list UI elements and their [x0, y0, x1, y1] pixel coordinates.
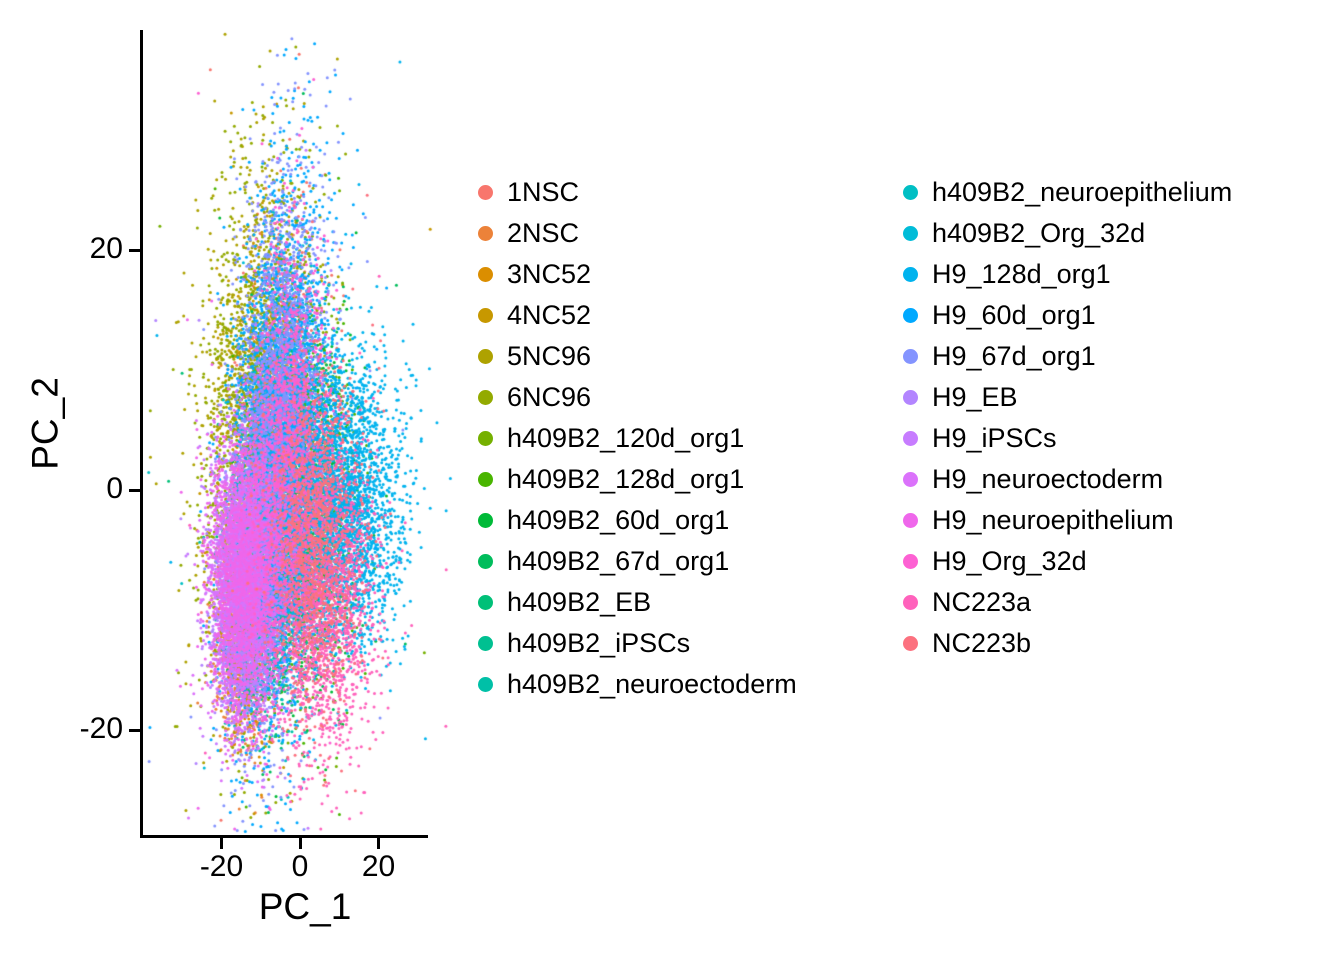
legend-color-dot-icon [903, 390, 918, 405]
legend-key [468, 185, 502, 200]
legend-item-label: h409B2_neuroepithelium [927, 179, 1232, 206]
x-tick-mark [299, 838, 302, 849]
legend-item[interactable]: 6NC96 [468, 377, 893, 418]
legend-color-dot-icon [478, 513, 493, 528]
legend-color-dot-icon [903, 431, 918, 446]
legend-key [468, 472, 502, 487]
legend-key [468, 636, 502, 651]
legend-color-dot-icon [478, 595, 493, 610]
legend-item[interactable]: h409B2_neuroepithelium [893, 172, 1323, 213]
y-tick-label: 20 [29, 234, 123, 264]
legend-item-label: H9_neuroectoderm [927, 466, 1163, 493]
legend-item-label: 2NSC [502, 220, 579, 247]
legend-key [893, 308, 927, 323]
x-tick-label: 20 [334, 852, 424, 882]
legend-item[interactable]: H9_iPSCs [893, 418, 1323, 459]
legend-key [468, 431, 502, 446]
legend-item[interactable]: NC223a [893, 582, 1323, 623]
legend-item[interactable]: h409B2_iPSCs [468, 623, 893, 664]
legend-item[interactable]: H9_60d_org1 [893, 295, 1323, 336]
legend-item-label: NC223b [927, 630, 1031, 657]
legend-color-dot-icon [903, 595, 918, 610]
legend-color-dot-icon [478, 554, 493, 569]
y-tick-mark [129, 249, 140, 252]
legend-color-dot-icon [903, 513, 918, 528]
legend-color-dot-icon [903, 554, 918, 569]
y-tick-label: -20 [29, 714, 123, 744]
legend-item-label: h409B2_iPSCs [502, 630, 690, 657]
legend-item[interactable]: 2NSC [468, 213, 893, 254]
legend-key [893, 349, 927, 364]
legend-item-label: h409B2_neuroectoderm [502, 671, 797, 698]
legend-item-label: 6NC96 [502, 384, 591, 411]
legend-item-label: H9_EB [927, 384, 1018, 411]
legend-key [468, 677, 502, 692]
legend-key [893, 431, 927, 446]
legend-item[interactable]: H9_128d_org1 [893, 254, 1323, 295]
legend-item-label: h409B2_Org_32d [927, 220, 1145, 247]
legend-item-label: h409B2_120d_org1 [502, 425, 744, 452]
legend-key [893, 554, 927, 569]
y-tick-mark [129, 489, 140, 492]
legend-item[interactable]: 1NSC [468, 172, 893, 213]
legend-item[interactable]: NC223b [893, 623, 1323, 664]
legend-color-dot-icon [478, 308, 493, 323]
legend-item[interactable]: h409B2_EB [468, 582, 893, 623]
legend-item-label: H9_60d_org1 [927, 302, 1096, 329]
legend-item-label: 3NC52 [502, 261, 591, 288]
legend-item-label: 1NSC [502, 179, 579, 206]
legend-column-1: 1NSC2NSC3NC524NC525NC966NC96h409B2_120d_… [468, 172, 893, 705]
legend-item-label: 5NC96 [502, 343, 591, 370]
legend-item[interactable]: 4NC52 [468, 295, 893, 336]
legend-key [468, 349, 502, 364]
legend-item[interactable]: H9_67d_org1 [893, 336, 1323, 377]
legend-color-dot-icon [903, 636, 918, 651]
legend-key [893, 226, 927, 241]
legend-item[interactable]: h409B2_120d_org1 [468, 418, 893, 459]
legend-item[interactable]: H9_neuroepithelium [893, 500, 1323, 541]
legend-item[interactable]: H9_EB [893, 377, 1323, 418]
legend-key [468, 308, 502, 323]
legend-item-label: h409B2_EB [502, 589, 651, 616]
legend-color-dot-icon [903, 308, 918, 323]
legend-item[interactable]: H9_Org_32d [893, 541, 1323, 582]
legend-item[interactable]: H9_neuroectoderm [893, 459, 1323, 500]
legend-key [893, 185, 927, 200]
legend-key [468, 554, 502, 569]
legend-color-dot-icon [903, 267, 918, 282]
plot-panel: -20 0 20 -20 0 20 PC_1 PC_2 [0, 0, 470, 960]
legend-item-label: 4NC52 [502, 302, 591, 329]
legend-key [468, 595, 502, 610]
legend-key [893, 267, 927, 282]
legend-item-label: H9_Org_32d [927, 548, 1087, 575]
legend-key [468, 390, 502, 405]
legend-item[interactable]: h409B2_Org_32d [893, 213, 1323, 254]
legend-item-label: H9_128d_org1 [927, 261, 1111, 288]
legend: 1NSC2NSC3NC524NC525NC966NC96h409B2_120d_… [468, 172, 1323, 705]
legend-color-dot-icon [903, 472, 918, 487]
legend-item-label: H9_iPSCs [927, 425, 1057, 452]
legend-item[interactable]: 3NC52 [468, 254, 893, 295]
legend-color-dot-icon [478, 677, 493, 692]
x-tick-mark [377, 838, 380, 849]
legend-item-label: h409B2_67d_org1 [502, 548, 729, 575]
legend-key [893, 390, 927, 405]
legend-color-dot-icon [903, 349, 918, 364]
legend-key [893, 513, 927, 528]
legend-key [893, 636, 927, 651]
legend-key [468, 513, 502, 528]
y-tick-mark [129, 729, 140, 732]
legend-item[interactable]: h409B2_67d_org1 [468, 541, 893, 582]
x-tick-label: 0 [255, 852, 345, 882]
legend-key [893, 595, 927, 610]
legend-color-dot-icon [478, 226, 493, 241]
legend-key [893, 472, 927, 487]
legend-item-label: h409B2_128d_org1 [502, 466, 744, 493]
legend-color-dot-icon [903, 226, 918, 241]
x-tick-mark [220, 838, 223, 849]
legend-item-label: NC223a [927, 589, 1031, 616]
legend-item-label: H9_67d_org1 [927, 343, 1096, 370]
legend-color-dot-icon [478, 431, 493, 446]
legend-key [468, 226, 502, 241]
legend-color-dot-icon [478, 472, 493, 487]
legend-color-dot-icon [478, 349, 493, 364]
legend-color-dot-icon [478, 267, 493, 282]
legend-color-dot-icon [478, 390, 493, 405]
legend-color-dot-icon [478, 636, 493, 651]
x-axis-title: PC_1 [160, 888, 450, 925]
x-tick-label: -20 [177, 852, 267, 882]
legend-item[interactable]: h409B2_60d_org1 [468, 500, 893, 541]
pca-scatter-figure: -20 0 20 -20 0 20 PC_1 PC_2 1NSC2NSC3NC5… [0, 0, 1344, 960]
legend-item[interactable]: 5NC96 [468, 336, 893, 377]
legend-item-label: h409B2_60d_org1 [502, 507, 729, 534]
y-axis-title: PC_2 [27, 274, 64, 574]
legend-key [468, 267, 502, 282]
legend-color-dot-icon [903, 185, 918, 200]
legend-item[interactable]: h409B2_128d_org1 [468, 459, 893, 500]
x-axis-line [140, 835, 428, 838]
legend-item[interactable]: h409B2_neuroectoderm [468, 664, 893, 705]
legend-column-2: h409B2_neuroepitheliumh409B2_Org_32dH9_1… [893, 172, 1323, 664]
legend-color-dot-icon [478, 185, 493, 200]
y-axis-line [140, 30, 143, 838]
legend-item-label: H9_neuroepithelium [927, 507, 1174, 534]
